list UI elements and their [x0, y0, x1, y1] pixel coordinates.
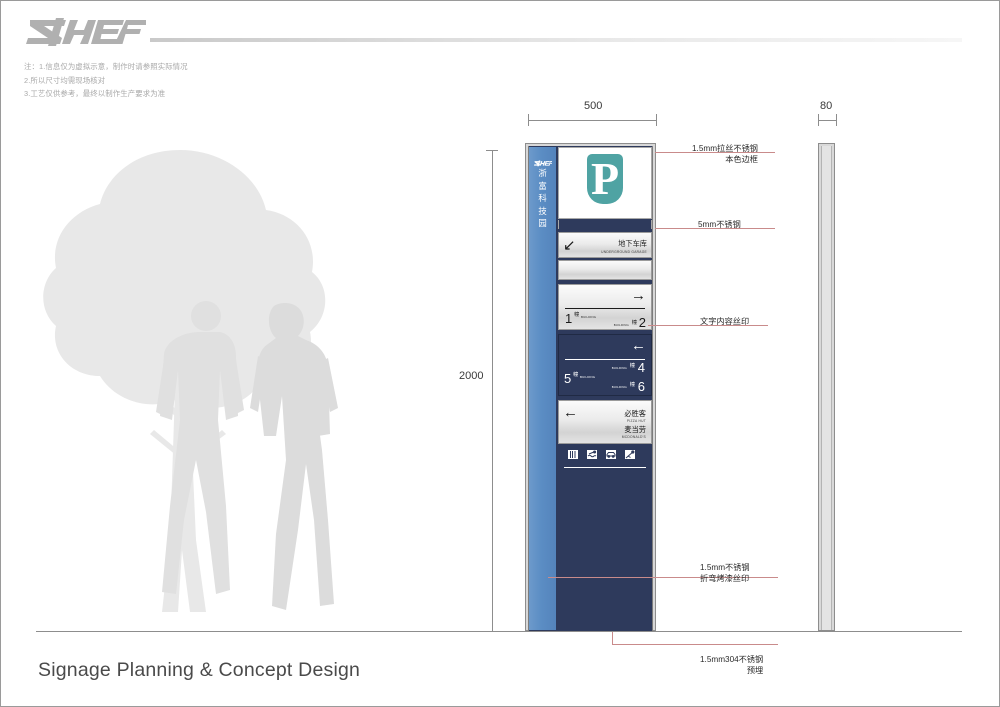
background-illustration — [30, 120, 500, 630]
building-zh: 幢 — [630, 363, 635, 369]
row-underground-garage[interactable]: ↙ 地下车库 UNDERGROUND GARAGE — [558, 232, 652, 258]
strip-title-char: 富 — [529, 180, 556, 193]
callout-line-text: 1.5mm不锈钢 — [700, 562, 750, 573]
dimension-tick — [528, 114, 529, 126]
building-number: 5 — [564, 372, 571, 385]
strip-vertical-title: 浙 富 科 技 园 — [529, 167, 556, 230]
ground-line — [36, 631, 962, 632]
building-zh: 幢 — [574, 312, 579, 318]
callout-line-text: 折弯烤漆丝印 — [700, 573, 750, 584]
callout-line-text: 5mm不锈钢 — [698, 219, 741, 230]
callout-bent-painted: 1.5mm不锈钢 折弯烤漆丝印 — [700, 562, 750, 584]
restaurant-icon[interactable] — [567, 449, 579, 460]
car-icon[interactable] — [605, 449, 617, 460]
strip-zefu-logo — [534, 154, 552, 161]
building-zh: 幢 — [573, 372, 578, 378]
building-number: 2 — [639, 316, 646, 329]
strip-title-char: 技 — [529, 205, 556, 218]
dimension-height-line — [492, 150, 493, 631]
restaurant-name-en: PIZZA HUT — [627, 419, 646, 423]
building-zh: 幢 — [630, 382, 635, 388]
strip-title-char: 浙 — [529, 167, 556, 180]
callout-line-text: 预埋 — [700, 665, 763, 676]
row-label-en: UNDERGROUND GARAGE — [601, 250, 647, 254]
sign-side-elevation — [818, 143, 835, 631]
callout-line-text: 1.5mm拉丝不锈钢 — [692, 143, 758, 154]
dimension-depth-label: 80 — [820, 100, 832, 112]
arrow-left-icon: ← — [563, 405, 578, 420]
parking-p-symbol: P — [587, 154, 623, 204]
callout-leader — [612, 644, 778, 645]
building-label: BUILDING — [614, 323, 629, 327]
panel-navy-divider — [558, 220, 652, 229]
building-number: 6 — [638, 380, 645, 393]
sign-front-elevation: 浙 富 科 技 园 P ↙ 地下车库 UNDERGROUND GARAGE → … — [525, 143, 656, 631]
strip-title-char: 园 — [529, 217, 556, 230]
callout-steel-5mm: 5mm不锈钢 — [698, 219, 741, 230]
callout-line-text: 本色边框 — [692, 154, 758, 165]
sports-icon[interactable] — [624, 449, 636, 460]
building-zh: 幢 — [632, 320, 637, 326]
callout-line-text: 1.5mm304不锈钢 — [700, 654, 763, 665]
header-divider — [150, 38, 962, 42]
building-label: BUILDING — [612, 385, 627, 389]
note-line: 3.工艺仅供参考，最终以制作生产要求为准 — [24, 87, 284, 101]
dimension-tick — [656, 114, 657, 126]
zefu-logo — [26, 14, 146, 50]
row-restaurants[interactable]: ← 必胜客 PIZZA HUT 麦当劳 MCDONALD'S — [558, 400, 652, 444]
icon-strip-rule — [564, 467, 646, 468]
callout-embedded-304: 1.5mm304不锈钢 预埋 — [700, 654, 763, 676]
row-label-cn: 地下车库 — [618, 240, 647, 248]
parking-logo-panel: P — [558, 147, 652, 219]
figure-woman — [250, 303, 338, 610]
dimension-tick — [818, 114, 819, 126]
swimming-icon[interactable] — [586, 449, 598, 460]
building-label: BUILDING — [612, 366, 627, 370]
building-number: 1 — [565, 312, 572, 325]
callout-leader-vertical — [612, 631, 613, 644]
callout-silkscreen: 文字内容丝印 — [700, 316, 749, 327]
arrow-left-icon: ← — [631, 338, 646, 353]
restaurant-name-cn: 麦当劳 — [624, 426, 646, 434]
arrow-right-icon: → — [631, 288, 646, 303]
restaurant-name-cn: 必胜客 — [624, 410, 646, 418]
dimension-tick — [836, 114, 837, 126]
callout-line-text: 文字内容丝印 — [700, 316, 749, 327]
row-blank[interactable] — [558, 260, 652, 280]
amenity-icon-strip — [558, 449, 652, 463]
row-buildings-1-2[interactable]: → 1 幢 BUILDING BUILDING 幢 2 — [558, 284, 652, 330]
dimension-tick — [486, 150, 498, 151]
dimension-width-label: 500 — [584, 100, 602, 112]
dimension-depth-line — [818, 120, 836, 121]
building-number: 4 — [638, 361, 645, 374]
page-title: Signage Planning & Concept Design — [38, 659, 360, 682]
row-buildings-4-5-6[interactable]: ← BUILDING 幢 4 5 幢 BUILDING BUILDING 幢 6 — [558, 334, 652, 396]
dimension-width-line — [528, 120, 656, 121]
building-label: BUILDING — [581, 315, 596, 319]
strip-title-char: 科 — [529, 192, 556, 205]
row-rule — [565, 359, 645, 360]
row-rule — [565, 308, 645, 309]
sign-side-strip: 浙 富 科 技 园 — [529, 147, 556, 630]
sign-content-column: P ↙ 地下车库 UNDERGROUND GARAGE → 1 幢 BUILDI… — [558, 147, 652, 630]
note-line: 注：1.信息仅为虚拟示意，制作时请参照实际情况 — [24, 60, 284, 74]
dimension-height-label: 2000 — [459, 370, 483, 382]
arrow-down-left-icon: ↙ — [563, 238, 576, 253]
callout-frame: 1.5mm拉丝不锈钢 本色边框 — [692, 143, 758, 165]
building-label: BUILDING — [580, 375, 595, 379]
design-notes: 注：1.信息仅为虚拟示意，制作时请参照实际情况 2.所以尺寸均需现场核对 3.工… — [24, 60, 284, 101]
note-line: 2.所以尺寸均需现场核对 — [24, 74, 284, 88]
restaurant-name-en: MCDONALD'S — [622, 435, 646, 439]
